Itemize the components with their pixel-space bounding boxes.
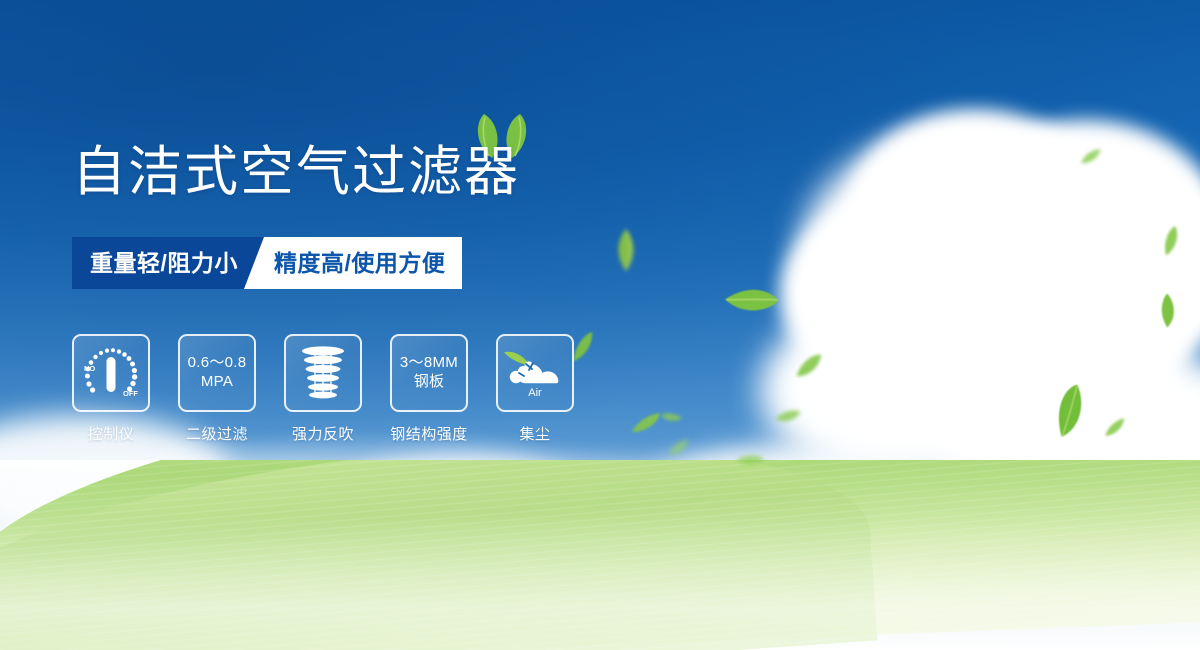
steel-plate-icon: 3～8MM钢板 <box>390 334 468 412</box>
feature-caption: 二级过滤 <box>186 423 248 444</box>
svg-text:NO: NO <box>84 364 95 373</box>
feature-item-steel-strength[interactable]: 3～8MM钢板 钢结构强度 <box>390 334 468 444</box>
air-cloud-icon: Air <box>496 334 574 412</box>
feature-list: NO OFF 控制仪 0.6～0.8MPA 二级过滤 <box>72 334 574 444</box>
svg-text:OFF: OFF <box>123 389 138 398</box>
pressure-value-text: 0.6～0.8MPA <box>188 354 247 392</box>
gauge-icon: NO OFF <box>72 334 150 412</box>
product-banner: 自洁式空气过滤器 重量轻/阻力小 精度高/使用方便 <box>0 0 1200 650</box>
feature-item-control-panel[interactable]: NO OFF 控制仪 <box>72 334 150 444</box>
feature-item-two-stage-filter[interactable]: 0.6～0.8MPA 二级过滤 <box>178 334 256 444</box>
feature-caption: 集尘 <box>519 423 550 444</box>
grass-highlight <box>0 460 1200 650</box>
pressure-icon: 0.6～0.8MPA <box>178 334 256 412</box>
feature-caption: 钢结构强度 <box>390 423 468 444</box>
steel-plate-text: 3～8MM钢板 <box>400 354 458 392</box>
feature-caption: 控制仪 <box>88 423 135 444</box>
page-title: 自洁式空气过滤器 <box>72 143 520 201</box>
subtitle-badge: 重量轻/阻力小 精度高/使用方便 <box>72 237 462 289</box>
svg-text:Air: Air <box>528 387 542 399</box>
grass-field <box>0 460 1200 650</box>
feature-caption: 强力反吹 <box>292 423 354 444</box>
subtitle-left-text: 重量轻/阻力小 <box>90 237 238 289</box>
coil-spring-icon <box>284 334 362 412</box>
feature-item-strong-backflush[interactable]: 强力反吹 <box>284 334 362 444</box>
subtitle-right-text: 精度高/使用方便 <box>274 237 445 289</box>
feature-item-dust-collection[interactable]: Air 集尘 <box>496 334 574 444</box>
